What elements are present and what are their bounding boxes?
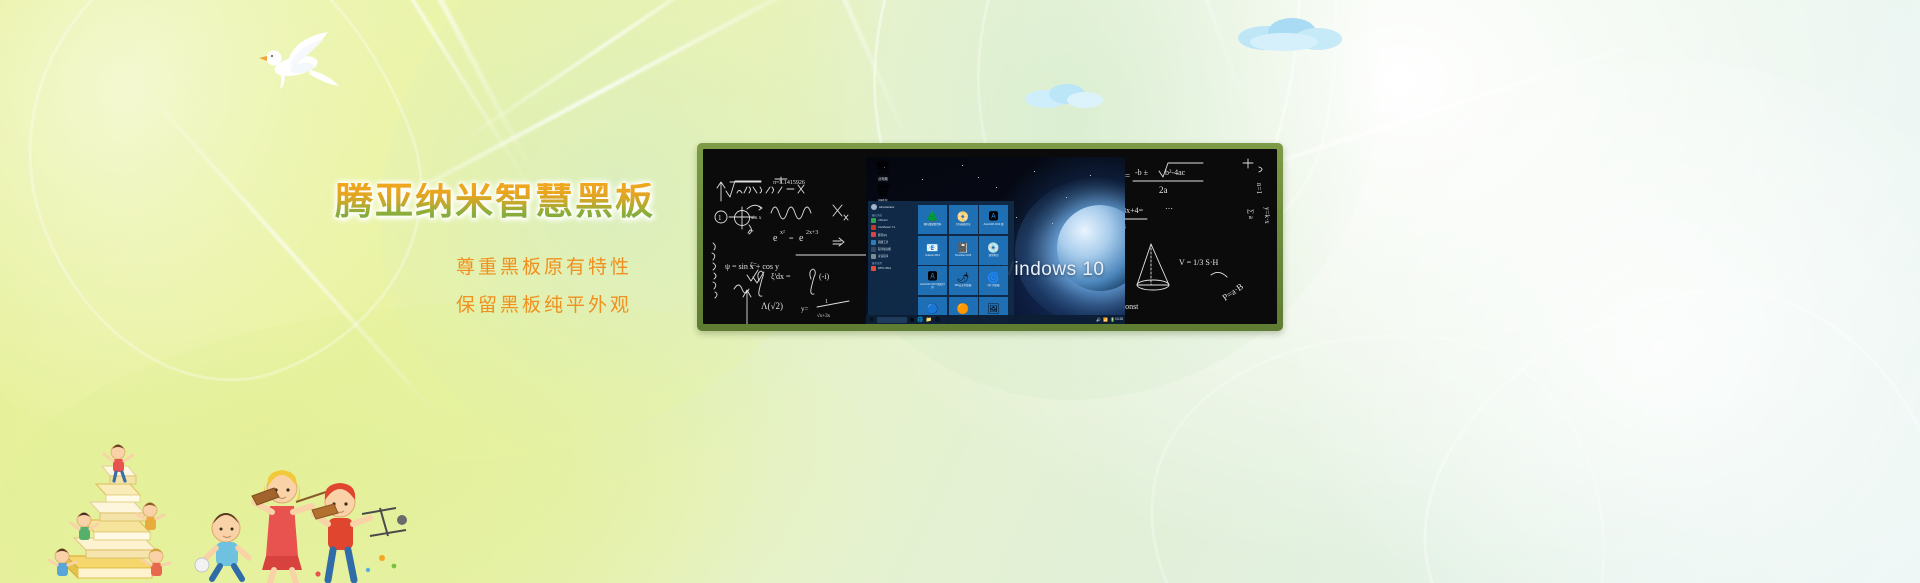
page-title: 腾亚纳米智慧黑板 (335, 183, 695, 223)
svg-text:ζ=: ζ= (750, 261, 757, 269)
svg-text:e: e (799, 233, 804, 244)
taskbar-clock[interactable]: 10:28 (1115, 318, 1123, 322)
start-menu-item[interactable]: WPS Office (871, 266, 915, 271)
svg-text:ξ'dx =: ξ'dx = (771, 272, 791, 281)
desktop-icon-my-computer[interactable]: 🖥 此电脑 (870, 161, 896, 181)
app-icon (871, 225, 876, 230)
start-menu-item[interactable]: 画图工具 (871, 240, 915, 245)
svg-text:⋯: ⋯ (1165, 204, 1173, 213)
explorer-icon[interactable]: 📁 (926, 316, 933, 323)
start-tile-label: 几何画板验证 (954, 224, 971, 227)
svg-text:(-i): (-i) (819, 272, 830, 281)
qq-browser-icon: 🌀 (987, 273, 999, 284)
start-tile[interactable]: 📧 Outlook 2013 (918, 236, 947, 265)
svg-text:n=1: n=1 (1255, 183, 1263, 194)
start-menu[interactable]: Administrator 最近添加 uTorrent CAJViewer 7.… (868, 201, 1014, 324)
start-tile-label: AutoCAD 2014 图 (983, 224, 1005, 227)
start-menu-item-label: WPS Office (878, 267, 891, 270)
start-menu-item[interactable]: 录音程序 (871, 254, 915, 259)
start-menu-item-label: 录音程序 (878, 254, 888, 258)
taskview-icon[interactable]: ▣ (909, 316, 916, 323)
subtitle-group: 尊重黑板原有特性 保留黑板纯平外观 (335, 249, 695, 325)
svg-text:2a: 2a (1159, 185, 1168, 195)
start-tile[interactable]: 🌲 教科版配套资料 (918, 205, 947, 234)
svg-text:V = 1/3 S·H: V = 1/3 S·H (1179, 258, 1218, 267)
disc-icon: 📀 (957, 212, 969, 223)
svg-text:e: e (773, 233, 778, 244)
start-menu-user[interactable]: Administrator (871, 204, 915, 210)
app-icon (871, 254, 876, 259)
edge-icon[interactable]: 🌐 (917, 316, 924, 323)
svg-text:1: 1 (825, 299, 828, 305)
start-tile[interactable]: 💿 课堂笔记 (979, 236, 1008, 265)
desktop-icon-label: 此电脑 (870, 176, 896, 181)
children-with-books-illustration (30, 360, 430, 583)
cd-icon: 💿 (987, 243, 999, 254)
svg-text:x²: x² (780, 230, 785, 236)
start-tile[interactable]: 📓 OneNote 2013 (949, 236, 978, 265)
chrome-icon: 🔵 (926, 304, 938, 315)
volume-icon[interactable]: 🔊 (1096, 317, 1101, 322)
autocad-icon: 🅰 (928, 272, 938, 283)
start-menu-item[interactable]: 腾讯QQ (871, 232, 915, 237)
smart-blackboard-device[interactable]: π=3.1415926 1 sin x e x² (697, 143, 1283, 331)
svg-text:π=3.1415926: π=3.1415926 (773, 180, 805, 186)
firefox-icon: 🟠 (957, 304, 969, 315)
svg-text:=: = (1125, 171, 1130, 181)
blackboard-screen[interactable]: π=3.1415926 1 sin x e x² (703, 149, 1277, 324)
start-menu-item-label: uTorrent (878, 219, 888, 222)
store-icon[interactable]: 🛍 (934, 316, 941, 323)
kid-sitting (195, 513, 249, 579)
svg-text:1: 1 (718, 214, 722, 222)
tree-icon: 🌲 (926, 212, 938, 223)
subtitle-line-2: 保留黑板纯平外观 (335, 287, 695, 325)
kid-violin-girl (252, 470, 326, 583)
start-menu-app-list[interactable]: Administrator 最近添加 uTorrent CAJViewer 7.… (868, 201, 917, 324)
chalk-writing-right: x 1 = -b ± b²-4ac 2a n=1 y=k·x ∑ a x²-3x… (1107, 149, 1277, 324)
chalk-writing-left: π=3.1415926 1 sin x e x² (703, 149, 880, 324)
svg-text:y=k·x: y=k·x (1263, 207, 1271, 224)
start-menu-item[interactable]: 程序和功能 (871, 247, 915, 252)
start-tile-label: AutoCAD 2015 图形打印 (918, 284, 947, 290)
start-menu-tiles[interactable]: 🌲 教科版配套资料 📀 几何画板验证 🅰 AutoCAD 2014 图 (917, 201, 1014, 324)
svg-text:Λ(√2): Λ(√2) (761, 301, 783, 311)
svg-text:y=: y= (801, 305, 809, 313)
photos-icon: 🖼 (987, 304, 1000, 315)
svg-text:∑ a: ∑ a (1247, 209, 1255, 220)
svg-text:-b ±: -b ± (1135, 168, 1149, 177)
start-tile-label: Outlook 2013 (924, 255, 941, 258)
cloud-icon-top-right (1232, 12, 1350, 54)
autocad-icon: 🅰 (989, 212, 999, 223)
user-name: Administrator (879, 206, 894, 209)
svg-text:=: = (789, 234, 794, 243)
onenote-icon: 📓 (957, 243, 969, 254)
taskbar[interactable]: ⊞ ▣ 🌐 📁 🛍 🔊 📶 🔋 10:28 (866, 315, 1125, 324)
start-menu-group-label: 最近添加 (872, 213, 915, 217)
headline-block: 腾亚纳米智慧黑板 尊重黑板原有特性 保留黑板纯平外观 (335, 183, 695, 325)
avatar (871, 204, 877, 210)
start-tile[interactable]: 📀 几何画板验证 (949, 205, 978, 234)
start-tile-label: 360安全浏览器 (954, 285, 973, 288)
windows-desktop[interactable]: 🖥 此电脑 🗑 回收站 Windows 10 Administrator (866, 157, 1125, 324)
app-icon (871, 247, 876, 252)
app-icon (871, 218, 876, 223)
svg-text:sin x: sin x (751, 215, 762, 221)
dove-icon (240, 28, 340, 90)
start-menu-group-label: 最常使用 (872, 261, 915, 265)
desktop-icon-recycle-bin[interactable]: 🗑 回收站 (870, 183, 896, 203)
subtitle-line-1: 尊重黑板原有特性 (335, 249, 695, 287)
svg-text:b²-4ac: b²-4ac (1165, 168, 1186, 177)
start-menu-item-label: 程序和功能 (878, 247, 891, 251)
app-icon (871, 232, 876, 237)
svg-text:√x+3x: √x+3x (817, 313, 831, 319)
start-menu-item[interactable]: uTorrent (871, 218, 915, 223)
start-tile-label: OneNote 2013 (954, 255, 972, 258)
promo-banner: 腾亚纳米智慧黑板 尊重黑板原有特性 保留黑板纯平外观 π=3.1415926 (0, 0, 1920, 583)
bg-light-streak-4 (452, 0, 769, 149)
app-icon (871, 240, 876, 245)
start-tile[interactable]: 🅰 AutoCAD 2014 图 (979, 205, 1008, 234)
trash-icon: 🗑 (870, 183, 896, 197)
start-menu-item-label: CAJViewer 7.2 (878, 226, 895, 229)
start-menu-item[interactable]: CAJViewer 7.2 (871, 225, 915, 230)
app-icon (871, 266, 876, 271)
start-tile-label: 课堂笔记 (987, 255, 999, 258)
system-tray[interactable]: 🔊 📶 🔋 (1096, 317, 1115, 322)
start-menu-item-label: 腾讯QQ (878, 233, 887, 237)
computer-icon: 🖥 (870, 161, 896, 175)
start-menu-item-label: 画图工具 (878, 240, 888, 244)
network-icon[interactable]: 📶 (1103, 317, 1108, 322)
start-button[interactable]: ⊞ (868, 316, 875, 323)
start-tile-label: QQ 浏览器 (986, 285, 1000, 288)
outlook-icon: 📧 (926, 243, 938, 254)
taskbar-search-input[interactable] (877, 317, 907, 323)
start-tile[interactable]: 🅰 AutoCAD 2015 图形打印 (918, 266, 947, 295)
browser-360-icon: 🌶 (957, 273, 970, 284)
start-tile[interactable]: 🌀 QQ 浏览器 (979, 266, 1008, 295)
start-tile[interactable]: 🌶 360安全浏览器 (949, 266, 978, 295)
cloud-icon-mid (1020, 80, 1106, 110)
svg-text:2x+3: 2x+3 (806, 230, 818, 236)
start-tile-label: 教科版配套资料 (923, 224, 943, 227)
svg-text:P=a·B: P=a·B (1220, 281, 1245, 302)
